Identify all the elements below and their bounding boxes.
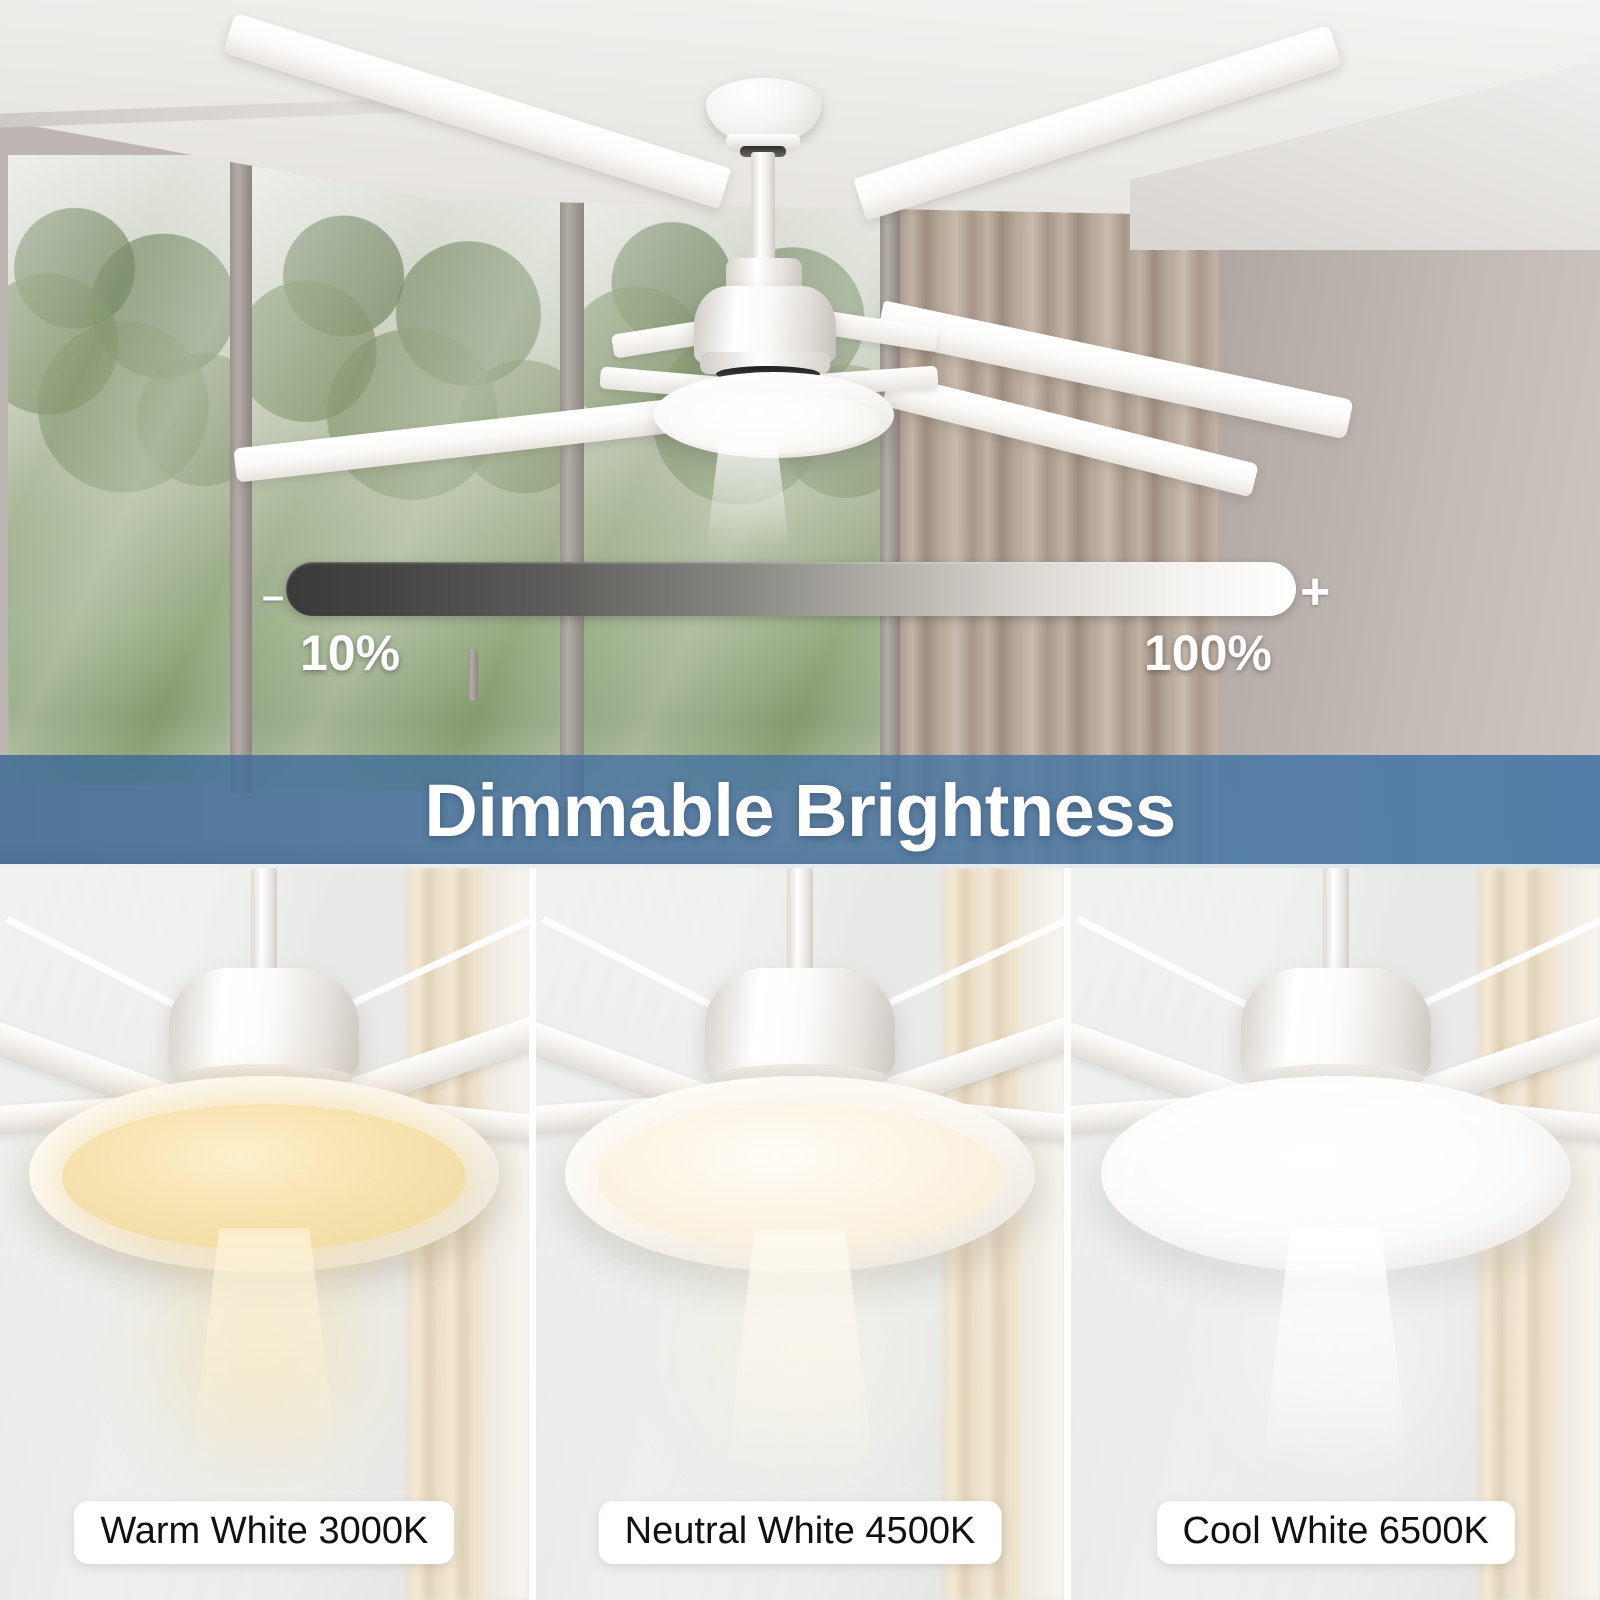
- panel-motor-housing: [169, 968, 359, 1076]
- panel-motor-housing: [705, 968, 895, 1076]
- room-scene: – + 10% 100%: [0, 0, 1600, 866]
- fan-blade-upper-left: [223, 13, 732, 209]
- brightness-max-label: 100%: [1144, 628, 1272, 678]
- panel-label-text: Neutral White 4500K: [625, 1510, 976, 1552]
- brightness-decrease-icon[interactable]: –: [262, 576, 284, 616]
- fan-downrod: [751, 152, 775, 267]
- fan-blade-upper-right: [853, 25, 1342, 221]
- product-feature-image: – + 10% 100% Dimmable Brightness: [0, 0, 1600, 1600]
- panel-downrod: [251, 868, 277, 978]
- brightness-slider[interactable]: – +: [262, 562, 1322, 618]
- panel-label-cool-white: Cool White 6500K: [1157, 1501, 1515, 1564]
- panel-downrod: [787, 868, 813, 978]
- panel-neutral-white[interactable]: Neutral White 4500K: [536, 868, 1065, 1600]
- panel-cool-white[interactable]: Cool White 6500K: [1071, 868, 1600, 1600]
- brightness-increase-icon[interactable]: +: [1300, 566, 1330, 618]
- panel-label-text: Warm White 3000K: [100, 1510, 428, 1552]
- panel-warm-white[interactable]: Warm White 3000K: [0, 868, 529, 1600]
- feature-banner-title: Dimmable Brightness: [424, 768, 1175, 853]
- panel-label-text: Cool White 6500K: [1183, 1510, 1489, 1552]
- fan-light-beam: [706, 440, 790, 550]
- panel-label-neutral-white: Neutral White 4500K: [599, 1501, 1002, 1564]
- panel-downrod: [1323, 868, 1349, 978]
- color-temperature-panels: Warm White 3000K Neutra: [0, 868, 1600, 1600]
- brightness-slider-track[interactable]: [286, 562, 1296, 616]
- brightness-min-label: 10%: [300, 628, 400, 678]
- panel-label-warm-white: Warm White 3000K: [74, 1501, 454, 1564]
- ceiling-fan: [0, 0, 1600, 866]
- feature-banner: Dimmable Brightness: [0, 755, 1600, 866]
- panel-motor-housing: [1241, 968, 1431, 1076]
